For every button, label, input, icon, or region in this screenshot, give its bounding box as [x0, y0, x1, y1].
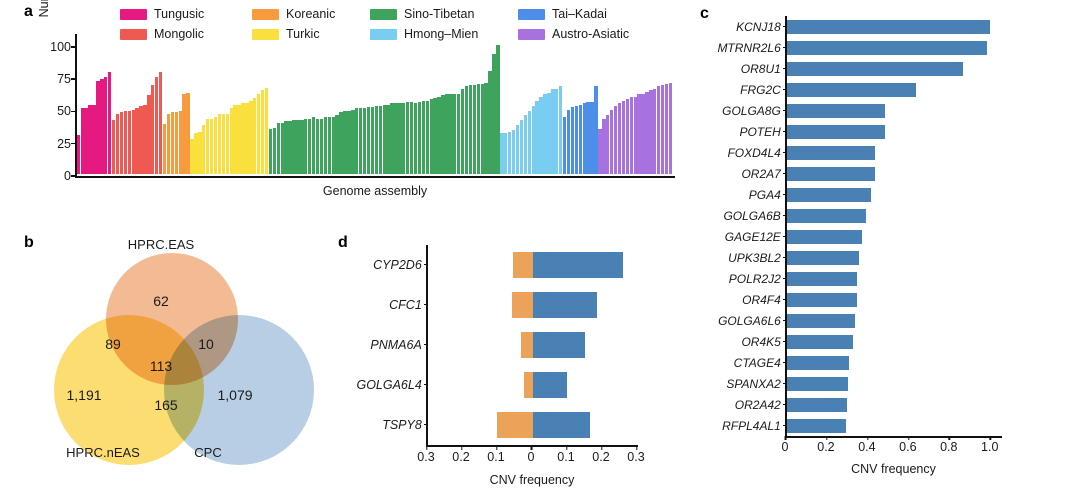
venn-label-hprc-neas: HPRC.nEAS	[66, 445, 140, 460]
bar	[787, 314, 856, 328]
bar	[92, 105, 95, 175]
x-tick-label: 0.1	[557, 450, 574, 464]
x-tick-label: 0.6	[899, 440, 916, 454]
bar	[402, 103, 405, 174]
bar	[492, 54, 495, 174]
panel-b: b 62 89 10 113 1,191 165 1,079 HPRC.EAS …	[0, 225, 350, 494]
bar	[437, 97, 440, 174]
x-tick-label: 1.0	[981, 440, 998, 454]
venn-count-eas-neas: 89	[105, 336, 121, 352]
venn-count-cpc-only: 1,079	[217, 387, 252, 403]
legend-item-koreanic: Koreanic	[252, 7, 370, 21]
bar	[787, 167, 875, 181]
bar	[194, 133, 197, 174]
x-tick-mark	[636, 446, 637, 450]
bar	[571, 107, 574, 174]
y-tick-mark	[783, 47, 787, 48]
bar	[320, 119, 323, 175]
y-tick-mark	[783, 68, 787, 69]
bar	[332, 117, 335, 174]
table-row: GOLGA6L4	[428, 372, 636, 398]
y-tick-mark	[424, 264, 428, 265]
x-tick-label: 0.4	[858, 440, 875, 454]
bar	[175, 112, 178, 174]
bar	[477, 84, 480, 174]
y-tick-mark	[783, 26, 787, 27]
bar	[202, 125, 205, 174]
bar	[787, 62, 963, 76]
bar	[539, 97, 542, 174]
bar	[257, 94, 260, 174]
bar	[375, 106, 378, 174]
gene-label: OR2A7	[741, 167, 786, 181]
bar	[626, 99, 629, 174]
bar	[88, 105, 91, 175]
bar	[637, 94, 640, 174]
bar	[787, 251, 860, 265]
bar-duplication	[533, 412, 590, 438]
bar	[547, 93, 550, 174]
table-row: GOLGA6L6	[787, 314, 1002, 328]
bar	[104, 77, 107, 174]
x-tick-label: 0.2	[592, 450, 609, 464]
legend-label: Koreanic	[286, 7, 335, 21]
panel-c-y-axis-line	[785, 16, 787, 436]
bar	[787, 272, 858, 286]
bar	[163, 124, 166, 174]
bar	[649, 90, 652, 174]
venn-diagram: 62 89 10 113 1,191 165 1,079 HPRC.EAS HP…	[28, 253, 318, 463]
gene-label: GOLGA6L6	[718, 314, 787, 328]
bar	[787, 125, 885, 139]
y-tick-mark	[71, 143, 75, 144]
bar	[288, 121, 291, 174]
bar	[139, 106, 142, 174]
bar	[281, 123, 284, 175]
gene-label: GAGE12E	[725, 230, 787, 244]
bar-duplication	[533, 332, 585, 358]
bar	[653, 89, 656, 174]
bar	[339, 112, 342, 174]
gene-label: CYP2D6	[373, 252, 428, 278]
bar	[787, 377, 848, 391]
table-row: CFC1	[428, 292, 636, 318]
legend-swatch-icon	[252, 9, 279, 20]
gene-label: PGA4	[749, 188, 787, 202]
y-tick-mark	[783, 110, 787, 111]
venn-count-neas-cpc: 165	[154, 397, 177, 413]
bar	[488, 71, 491, 174]
bar	[233, 105, 236, 175]
bar	[265, 88, 268, 174]
bar	[559, 86, 562, 174]
table-row: SPANXA2	[787, 377, 1002, 391]
venn-count-neas-only: 1,191	[66, 387, 101, 403]
bar	[222, 114, 225, 175]
bar	[386, 105, 389, 175]
bar	[253, 98, 256, 174]
y-tick-label: 100	[31, 40, 71, 54]
table-row: RFPL4AL1	[787, 419, 1002, 433]
bar	[469, 85, 472, 174]
y-tick-mark	[783, 173, 787, 174]
bar	[128, 111, 131, 174]
bar	[383, 105, 386, 175]
legend-item-tai-kadai: Tai–Kadai	[518, 7, 678, 21]
panel-d-plot-area: CYP2D6CFC1PNMA6AGOLGA6L4TSPY8 0.30.20.10…	[426, 245, 636, 445]
bar	[433, 98, 436, 174]
bar	[787, 146, 875, 160]
bar	[186, 93, 189, 174]
venn-count-eas-only: 62	[153, 293, 169, 309]
bar	[461, 89, 464, 174]
gene-label: CTAGE4	[734, 356, 787, 370]
bar	[316, 119, 319, 175]
panel-c-x-axis-label: CNV frequency	[785, 462, 1002, 476]
x-tick-label: 0.3	[627, 450, 644, 464]
y-tick-mark	[783, 341, 787, 342]
gene-label: POLR2J2	[729, 272, 787, 286]
panel-c-letter: c	[700, 6, 709, 22]
table-row: UPK3BL2	[787, 251, 1002, 265]
table-row: CYP2D6	[428, 252, 636, 278]
bar	[645, 92, 648, 175]
bar	[630, 97, 633, 174]
y-tick-mark	[71, 78, 75, 79]
bar	[371, 107, 374, 174]
bar	[665, 84, 668, 174]
table-row: GOLGA8G	[787, 104, 1002, 118]
bar	[171, 112, 174, 174]
venn-label-hprc-eas: HPRC.EAS	[128, 237, 194, 252]
bar	[226, 114, 229, 175]
bar	[379, 106, 382, 174]
bar	[606, 115, 609, 174]
table-row: OR4K5	[787, 335, 1002, 349]
bar	[555, 89, 558, 174]
bar	[457, 94, 460, 174]
bar	[81, 108, 84, 174]
y-tick-mark	[783, 89, 787, 90]
bar-deletion	[521, 332, 533, 358]
bar	[390, 103, 393, 174]
x-tick-mark	[949, 436, 950, 440]
table-row: KCNJ18	[787, 20, 1002, 34]
bar	[112, 120, 115, 174]
bar	[787, 41, 988, 55]
bar	[355, 108, 358, 174]
y-axis-label-line: Number of duplicated protein-coding gene…	[37, 0, 67, 20]
bar	[230, 108, 233, 174]
legend-swatch-icon	[120, 9, 147, 20]
bar	[210, 119, 213, 175]
bar	[410, 102, 413, 174]
legend-swatch-icon	[518, 9, 545, 20]
gene-label: TSPY8	[382, 412, 428, 438]
bar-deletion	[497, 412, 532, 438]
y-tick-mark	[71, 175, 75, 176]
bar	[465, 86, 468, 174]
y-tick-mark	[783, 299, 787, 300]
panel-d: d CYP2D6CFC1PNMA6AGOLGA6L4TSPY8 0.30.20.…	[330, 225, 690, 494]
y-tick-mark	[783, 383, 787, 384]
bar	[453, 94, 456, 174]
bar	[496, 45, 499, 174]
y-tick-mark	[424, 384, 428, 385]
bar	[551, 89, 554, 174]
bar	[430, 99, 433, 174]
legend-item-sino-tibetan: Sino-Tibetan	[370, 7, 518, 21]
bar	[398, 103, 401, 174]
x-tick-label: 0.8	[940, 440, 957, 454]
gene-label: OR8U1	[741, 62, 787, 76]
table-row: MTRNR2L6	[787, 41, 1002, 55]
bar-duplication	[533, 252, 623, 278]
bar	[394, 103, 397, 174]
bar	[575, 106, 578, 174]
bar	[296, 120, 299, 174]
bar	[567, 110, 570, 175]
bar	[441, 95, 444, 174]
panel-d-letter: d	[338, 235, 348, 251]
x-tick-mark	[531, 446, 532, 450]
bar	[787, 356, 849, 370]
bar	[249, 101, 252, 175]
panel-a-x-axis-label: Genome assembly	[75, 184, 675, 198]
venn-count-eas-cpc: 10	[198, 336, 214, 352]
x-tick-mark	[496, 446, 497, 450]
gene-label: MTRNR2L6	[717, 41, 786, 55]
table-row: OR8U1	[787, 62, 1002, 76]
bar-duplication	[533, 292, 597, 318]
bar	[304, 119, 307, 175]
bar	[449, 94, 452, 174]
bar	[583, 103, 586, 174]
table-row: POLR2J2	[787, 272, 1002, 286]
bar	[363, 108, 366, 174]
panel-c: c KCNJ18MTRNR2L6OR8U1FRG2CGOLGA8GPOTEHFO…	[690, 0, 1080, 494]
legend-label: Tai–Kadai	[552, 7, 607, 21]
bar	[484, 83, 487, 175]
bar	[147, 95, 150, 174]
bar	[528, 111, 531, 174]
bar	[84, 108, 87, 174]
table-row: PGA4	[787, 188, 1002, 202]
bar	[335, 115, 338, 174]
bar	[787, 104, 885, 118]
y-tick-label: 25	[31, 137, 71, 151]
bar	[284, 121, 287, 174]
bar	[143, 105, 146, 175]
bar	[167, 114, 170, 175]
bar	[300, 120, 303, 174]
bar	[787, 293, 858, 307]
bar	[516, 125, 519, 174]
bar	[543, 94, 546, 174]
bar	[328, 117, 331, 174]
gene-label: SPANXA2	[726, 377, 786, 391]
y-tick-mark	[71, 111, 75, 112]
bar	[661, 85, 664, 174]
bar	[324, 117, 327, 174]
x-tick-label: 0.1	[487, 450, 504, 464]
bar	[261, 90, 264, 174]
bar-deletion	[524, 372, 533, 398]
bar	[351, 110, 354, 175]
x-tick-mark	[461, 446, 462, 450]
x-tick-mark	[990, 436, 991, 440]
bar	[504, 133, 507, 174]
y-tick-label: 50	[31, 104, 71, 118]
bar	[277, 123, 280, 175]
bar	[614, 106, 617, 174]
bar	[481, 84, 484, 174]
bar	[308, 119, 311, 175]
bar	[669, 83, 672, 175]
bar	[634, 97, 637, 174]
legend-label: Sino-Tibetan	[404, 7, 474, 21]
y-tick-mark	[783, 404, 787, 405]
bar	[787, 188, 871, 202]
bar	[343, 111, 346, 174]
bar	[245, 103, 248, 174]
table-row: OR2A42	[787, 398, 1002, 412]
bar	[218, 114, 221, 175]
legend-item-tungusic: Tungusic	[120, 7, 252, 21]
table-row: FRG2C	[787, 83, 1002, 97]
gene-label: CFC1	[389, 292, 428, 318]
y-tick-label: 75	[31, 72, 71, 86]
bar	[206, 119, 209, 175]
panel-a: a TungusicKoreanicSino-TibetanTai–KadaiM…	[0, 0, 690, 225]
table-row: OR2A7	[787, 167, 1002, 181]
panel-a-plot-area: Number of duplicated protein-coding gene…	[75, 34, 675, 176]
bar	[787, 20, 990, 34]
bar	[418, 102, 421, 174]
bar	[100, 79, 103, 175]
bar	[657, 86, 660, 174]
panel-a-letter: a	[24, 4, 33, 20]
bar	[426, 101, 429, 175]
x-tick-label: 0	[782, 440, 789, 454]
gene-label: GOLGA6L4	[356, 372, 427, 398]
gene-label: OR4K5	[741, 335, 786, 349]
bar	[787, 398, 847, 412]
x-tick-mark	[908, 436, 909, 440]
panel-a-bars	[77, 32, 673, 174]
bar	[610, 110, 613, 175]
y-tick-mark	[783, 194, 787, 195]
bar	[273, 128, 276, 174]
y-tick-mark	[71, 46, 75, 47]
x-tick-mark	[785, 436, 786, 440]
bar-deletion	[513, 252, 533, 278]
bar	[598, 129, 601, 174]
x-tick-mark	[426, 446, 427, 450]
bar	[500, 133, 503, 174]
x-tick-mark	[566, 446, 567, 450]
panel-c-x-axis-line	[785, 436, 1002, 438]
bar	[594, 86, 597, 174]
legend-swatch-icon	[370, 9, 397, 20]
bar	[108, 72, 111, 174]
bar	[77, 135, 80, 174]
bar	[406, 102, 409, 174]
bar	[445, 94, 448, 174]
bar	[269, 129, 272, 174]
gene-label: OR2A42	[735, 398, 787, 412]
bar	[787, 209, 866, 223]
table-row: PNMA6A	[428, 332, 636, 358]
x-tick-label: 0.3	[417, 450, 434, 464]
bar	[508, 132, 511, 175]
x-tick-mark	[867, 436, 868, 440]
y-tick-mark	[783, 152, 787, 153]
legend-label: Tungusic	[154, 7, 204, 21]
bar	[535, 101, 538, 175]
panel-c-plot-area: KCNJ18MTRNR2L6OR8U1FRG2CGOLGA8GPOTEHFOXD…	[785, 16, 1000, 436]
y-tick-mark	[783, 425, 787, 426]
bar	[116, 114, 119, 175]
bar	[241, 103, 244, 174]
table-row: TSPY8	[428, 412, 636, 438]
table-row: POTEH	[787, 125, 1002, 139]
bar	[618, 103, 621, 174]
bar-deletion	[512, 292, 533, 318]
bar	[155, 77, 158, 174]
bar	[124, 111, 127, 174]
x-tick-mark	[601, 446, 602, 450]
x-tick-label: 0.2	[452, 450, 469, 464]
table-row: GOLGA6B	[787, 209, 1002, 223]
bar	[179, 111, 182, 174]
y-tick-mark	[783, 131, 787, 132]
bar	[214, 117, 217, 174]
bar	[120, 112, 123, 174]
bar	[312, 117, 315, 174]
y-tick-mark	[783, 320, 787, 321]
venn-count-all-three: 113	[150, 358, 172, 374]
bar	[182, 94, 185, 174]
y-tick-mark	[783, 362, 787, 363]
bar	[524, 115, 527, 174]
bar	[132, 110, 135, 175]
bar	[414, 103, 417, 174]
bar	[787, 335, 854, 349]
bar	[422, 101, 425, 175]
bar	[292, 120, 295, 174]
gene-label: GOLGA6B	[723, 209, 786, 223]
y-tick-mark	[783, 236, 787, 237]
table-row: FOXD4L4	[787, 146, 1002, 160]
bar	[787, 230, 862, 244]
bar	[151, 85, 154, 174]
bar	[787, 419, 846, 433]
bar	[787, 83, 916, 97]
table-row: OR4F4	[787, 293, 1002, 307]
x-tick-label: 0.2	[817, 440, 834, 454]
bar	[590, 102, 593, 174]
bar	[473, 85, 476, 174]
gene-label: OR4F4	[742, 293, 787, 307]
bar	[602, 119, 605, 175]
bar	[532, 106, 535, 174]
panel-a-y-axis-label: Number of duplicated protein-coding gene…	[37, 0, 67, 20]
panel-b-letter: b	[24, 235, 34, 251]
bar	[159, 72, 162, 174]
bar	[641, 94, 644, 174]
y-tick-mark	[424, 424, 428, 425]
